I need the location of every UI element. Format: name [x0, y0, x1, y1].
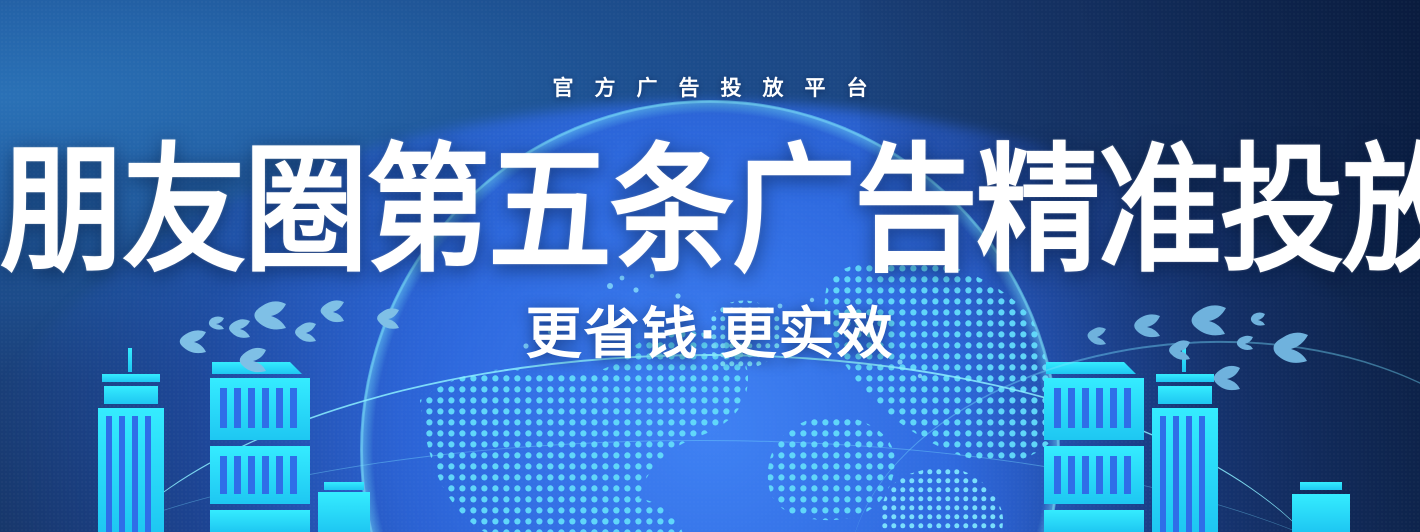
banner-text-content: 官方广告投放平台 朋友圈第五条广告精准投放 更省钱·更实效: [0, 0, 1420, 532]
promo-banner: 官方广告投放平台 朋友圈第五条广告精准投放 更省钱·更实效: [0, 0, 1420, 532]
banner-eyebrow: 官方广告投放平台: [0, 72, 1420, 102]
banner-headline: 朋友圈第五条广告精准投放: [0, 142, 1420, 281]
banner-tagline: 更省钱·更实效: [0, 306, 1420, 362]
